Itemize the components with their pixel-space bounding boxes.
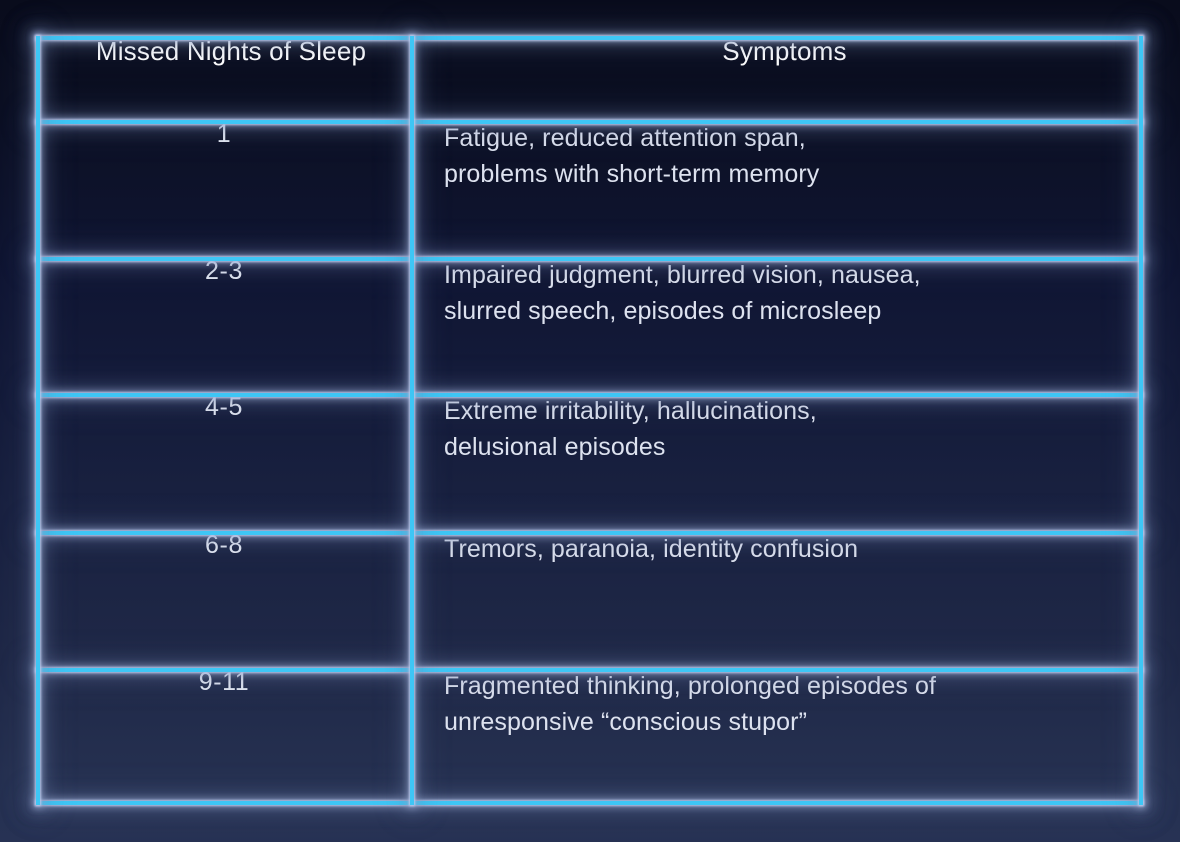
cell-value-symptoms: Fragmented thinking, prolonged episodes … [444,668,1125,740]
cell-value-nights: 1 [217,120,232,148]
cell-symptoms: Impaired judgment, blurred vision, nause… [412,257,1143,393]
cell-value-symptoms: Fatigue, reduced attention span, problem… [444,120,1125,192]
sleep-deprivation-table: Missed Nights of Sleep Symptoms 1 [36,36,1143,805]
symptoms-line: Fragmented thinking, prolonged episodes … [444,668,1125,704]
cell-surface-symptoms: Tremors, paranoia, identity confusion [412,531,1143,668]
symptoms-line: Tremors, paranoia, identity confusion [444,531,1125,567]
column-header-symptoms: Symptoms [412,36,1143,120]
cell-surface-symptoms: Fatigue, reduced attention span, problem… [412,120,1143,257]
header-cell-surface-nights: Missed Nights of Sleep [36,36,412,120]
column-header-missed-nights: Missed Nights of Sleep [36,36,412,120]
cell-symptoms: Extreme irritability, hallucinations, de… [412,393,1143,531]
cell-surface-nights: 4-5 [36,393,412,531]
cell-value-symptoms: Impaired judgment, blurred vision, nause… [444,257,1125,329]
symptoms-line: Impaired judgment, blurred vision, nause… [444,257,1125,293]
cell-value-nights: 9-11 [199,668,250,696]
cell-missed-nights: 1 [36,120,412,257]
table-row: 4-5 Extreme irritability, hallucinations… [36,393,1143,531]
symptoms-line: delusional episodes [444,429,1125,465]
cell-value-symptoms: Extreme irritability, hallucinations, de… [444,393,1125,465]
cell-value-nights: 6-8 [205,531,243,559]
table-header: Missed Nights of Sleep Symptoms [36,36,1143,120]
cell-surface-nights: 2-3 [36,257,412,393]
table-body: 1 Fatigue, reduced attention span, probl… [36,120,1143,805]
cell-missed-nights: 9-11 [36,668,412,805]
cell-surface-symptoms: Impaired judgment, blurred vision, nause… [412,257,1143,393]
column-header-label-nights: Missed Nights of Sleep [96,36,366,66]
cell-symptoms: Fatigue, reduced attention span, problem… [412,120,1143,257]
symptoms-line: Extreme irritability, hallucinations, [444,393,1125,429]
header-cell-surface-symptoms: Symptoms [412,36,1143,120]
symptoms-line: slurred speech, episodes of microsleep [444,293,1125,329]
table-header-row: Missed Nights of Sleep Symptoms [36,36,1143,120]
cell-surface-symptoms: Fragmented thinking, prolonged episodes … [412,668,1143,805]
cell-value-symptoms: Tremors, paranoia, identity confusion [444,531,1125,567]
sleep-deprivation-table-container: Missed Nights of Sleep Symptoms 1 [36,36,1143,805]
cell-surface-symptoms: Extreme irritability, hallucinations, de… [412,393,1143,531]
cell-surface-nights: 9-11 [36,668,412,805]
cell-surface-nights: 6-8 [36,531,412,668]
cell-value-nights: 4-5 [205,393,243,421]
cell-symptoms: Fragmented thinking, prolonged episodes … [412,668,1143,805]
table-row: 6-8 Tremors, paranoia, identity confusio… [36,531,1143,668]
cell-symptoms: Tremors, paranoia, identity confusion [412,531,1143,668]
column-header-label-symptoms: Symptoms [722,36,846,66]
cell-surface-nights: 1 [36,120,412,257]
table-row: 2-3 Impaired judgment, blurred vision, n… [36,257,1143,393]
symptoms-line: unresponsive “conscious stupor” [444,704,1125,740]
table-row: 1 Fatigue, reduced attention span, probl… [36,120,1143,257]
symptoms-line: problems with short-term memory [444,156,1125,192]
symptoms-line: Fatigue, reduced attention span, [444,120,1125,156]
cell-missed-nights: 4-5 [36,393,412,531]
cell-missed-nights: 2-3 [36,257,412,393]
cell-missed-nights: 6-8 [36,531,412,668]
table-row: 9-11 Fragmented thinking, prolonged epis… [36,668,1143,805]
cell-value-nights: 2-3 [205,257,243,285]
